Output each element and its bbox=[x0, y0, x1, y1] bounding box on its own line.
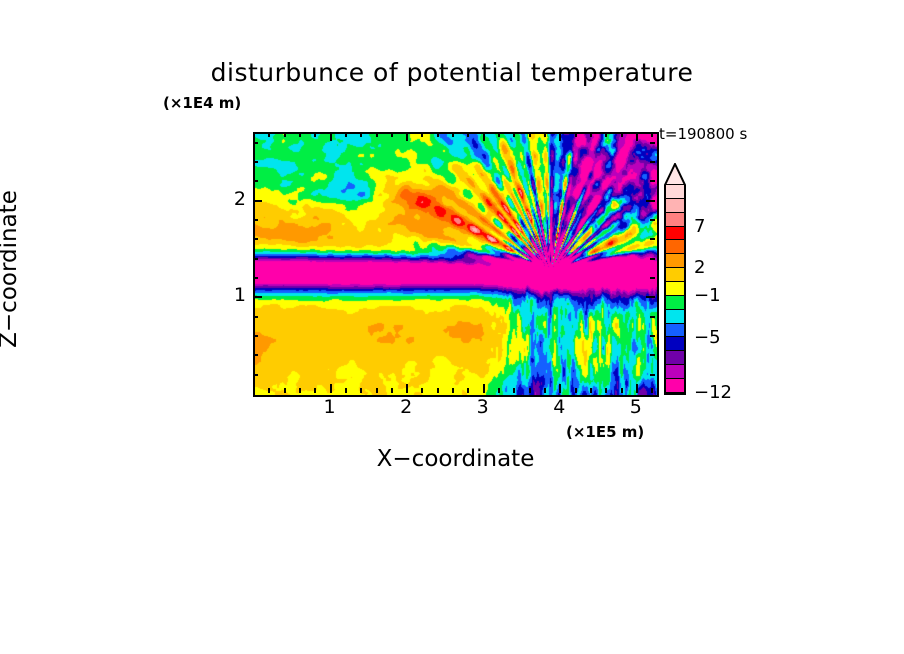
colorbar-band bbox=[664, 365, 686, 379]
xtick bbox=[513, 388, 515, 393]
ytick-right bbox=[650, 335, 655, 337]
colorbar-bottom-cap bbox=[664, 393, 686, 395]
xtick bbox=[421, 388, 423, 393]
xtick-top bbox=[421, 132, 423, 137]
xtick bbox=[575, 388, 577, 393]
xtick bbox=[391, 388, 393, 393]
xtick bbox=[544, 388, 546, 393]
ytick bbox=[253, 219, 258, 221]
xtick-top bbox=[391, 132, 393, 137]
ytick-right bbox=[650, 374, 655, 376]
ytick bbox=[253, 200, 262, 202]
xtick bbox=[605, 388, 607, 393]
ytick-right bbox=[650, 142, 655, 144]
ytick bbox=[253, 258, 258, 260]
colorbar-tick-label: 2 bbox=[694, 257, 705, 278]
time-annotation: t=190800 s bbox=[659, 125, 747, 143]
xtick-top bbox=[330, 132, 332, 141]
xtick bbox=[651, 388, 653, 393]
xtick-top bbox=[467, 132, 469, 137]
ytick bbox=[253, 180, 258, 182]
xtick bbox=[376, 388, 378, 393]
xtick-top bbox=[268, 132, 270, 137]
colorbar-band bbox=[664, 185, 686, 199]
ytick bbox=[253, 161, 258, 163]
xtick-top bbox=[299, 132, 301, 137]
xtick-label: 5 bbox=[621, 396, 651, 418]
colorbar-band bbox=[664, 213, 686, 227]
ytick-right bbox=[650, 219, 655, 221]
colorbar-band bbox=[664, 254, 686, 268]
xtick-label: 2 bbox=[391, 396, 421, 418]
ytick-label: 1 bbox=[216, 284, 246, 306]
ytick bbox=[253, 354, 258, 356]
xtick-top bbox=[284, 132, 286, 137]
xtick-top bbox=[559, 132, 561, 141]
ytick-right bbox=[650, 354, 655, 356]
ytick-right bbox=[650, 277, 655, 279]
ytick-right bbox=[650, 180, 655, 182]
xtick-top bbox=[406, 132, 408, 141]
temperature-field-canvas bbox=[255, 134, 657, 395]
ytick bbox=[253, 316, 258, 318]
colorbar bbox=[664, 185, 686, 393]
xtick-top bbox=[575, 132, 577, 137]
xtick bbox=[498, 388, 500, 393]
xtick bbox=[284, 388, 286, 393]
xtick bbox=[590, 388, 592, 393]
yaxis-title: Z−coordinate bbox=[186, 150, 216, 370]
xtick-top bbox=[513, 132, 515, 137]
xaxis-units-label: (×1E5 m) bbox=[566, 423, 644, 441]
xtick bbox=[330, 384, 332, 393]
xtick bbox=[452, 388, 454, 393]
colorbar-band bbox=[664, 337, 686, 351]
ytick-label: 2 bbox=[216, 188, 246, 210]
xtick bbox=[621, 388, 623, 393]
xtick-top bbox=[544, 132, 546, 137]
xtick-label: 1 bbox=[315, 396, 345, 418]
xtick bbox=[559, 384, 561, 393]
xtick-top bbox=[621, 132, 623, 137]
colorbar-arrow-tip bbox=[664, 163, 686, 186]
xtick-label: 4 bbox=[544, 396, 574, 418]
ytick-right bbox=[650, 258, 655, 260]
page-title: disturbunce of potential temperature bbox=[0, 58, 904, 87]
colorbar-band bbox=[664, 379, 686, 393]
xtick-top bbox=[636, 132, 638, 141]
ytick bbox=[253, 277, 258, 279]
xtick-top bbox=[483, 132, 485, 141]
colorbar-tick-label: −12 bbox=[694, 382, 732, 403]
xtick bbox=[437, 388, 439, 393]
contour-plot-area bbox=[253, 132, 659, 397]
colorbar-band bbox=[664, 268, 686, 282]
xtick-top bbox=[437, 132, 439, 137]
colorbar-tick-label: −5 bbox=[694, 327, 721, 348]
xtick bbox=[345, 388, 347, 393]
xtick-top bbox=[314, 132, 316, 137]
ytick-right bbox=[650, 238, 655, 240]
colorbar-tick-label: 7 bbox=[694, 216, 705, 237]
colorbar-band bbox=[664, 296, 686, 310]
ytick-right bbox=[650, 316, 655, 318]
ytick-right bbox=[650, 161, 655, 163]
colorbar-band bbox=[664, 324, 686, 338]
xtick bbox=[314, 388, 316, 393]
colorbar-band bbox=[664, 199, 686, 213]
ytick bbox=[253, 142, 258, 144]
colorbar-band bbox=[664, 282, 686, 296]
xtick-top bbox=[605, 132, 607, 137]
xtick bbox=[406, 384, 408, 393]
ytick-right bbox=[646, 296, 655, 298]
xtick-top bbox=[498, 132, 500, 137]
xtick-top bbox=[360, 132, 362, 137]
xtick bbox=[360, 388, 362, 393]
xtick-top bbox=[345, 132, 347, 137]
xtick bbox=[268, 388, 270, 393]
yaxis-title-text: Z−coordinate bbox=[0, 159, 22, 379]
colorbar-band bbox=[664, 351, 686, 365]
xaxis-title: X−coordinate bbox=[253, 446, 658, 472]
xtick-top bbox=[651, 132, 653, 137]
colorbar-band bbox=[664, 310, 686, 324]
ytick bbox=[253, 335, 258, 337]
yaxis-units-label: (×1E4 m) bbox=[163, 94, 241, 112]
xtick bbox=[636, 384, 638, 393]
ytick bbox=[253, 238, 258, 240]
xtick bbox=[467, 388, 469, 393]
xtick-top bbox=[452, 132, 454, 137]
colorbar-band bbox=[664, 240, 686, 254]
ytick bbox=[253, 296, 262, 298]
xtick bbox=[483, 384, 485, 393]
xtick bbox=[529, 388, 531, 393]
xtick-top bbox=[376, 132, 378, 137]
colorbar-tick-label: −1 bbox=[694, 285, 721, 306]
ytick bbox=[253, 374, 258, 376]
xtick-top bbox=[590, 132, 592, 137]
xtick bbox=[299, 388, 301, 393]
xtick-top bbox=[529, 132, 531, 137]
ytick-right bbox=[646, 200, 655, 202]
colorbar-band bbox=[664, 227, 686, 241]
xtick-label: 3 bbox=[468, 396, 498, 418]
